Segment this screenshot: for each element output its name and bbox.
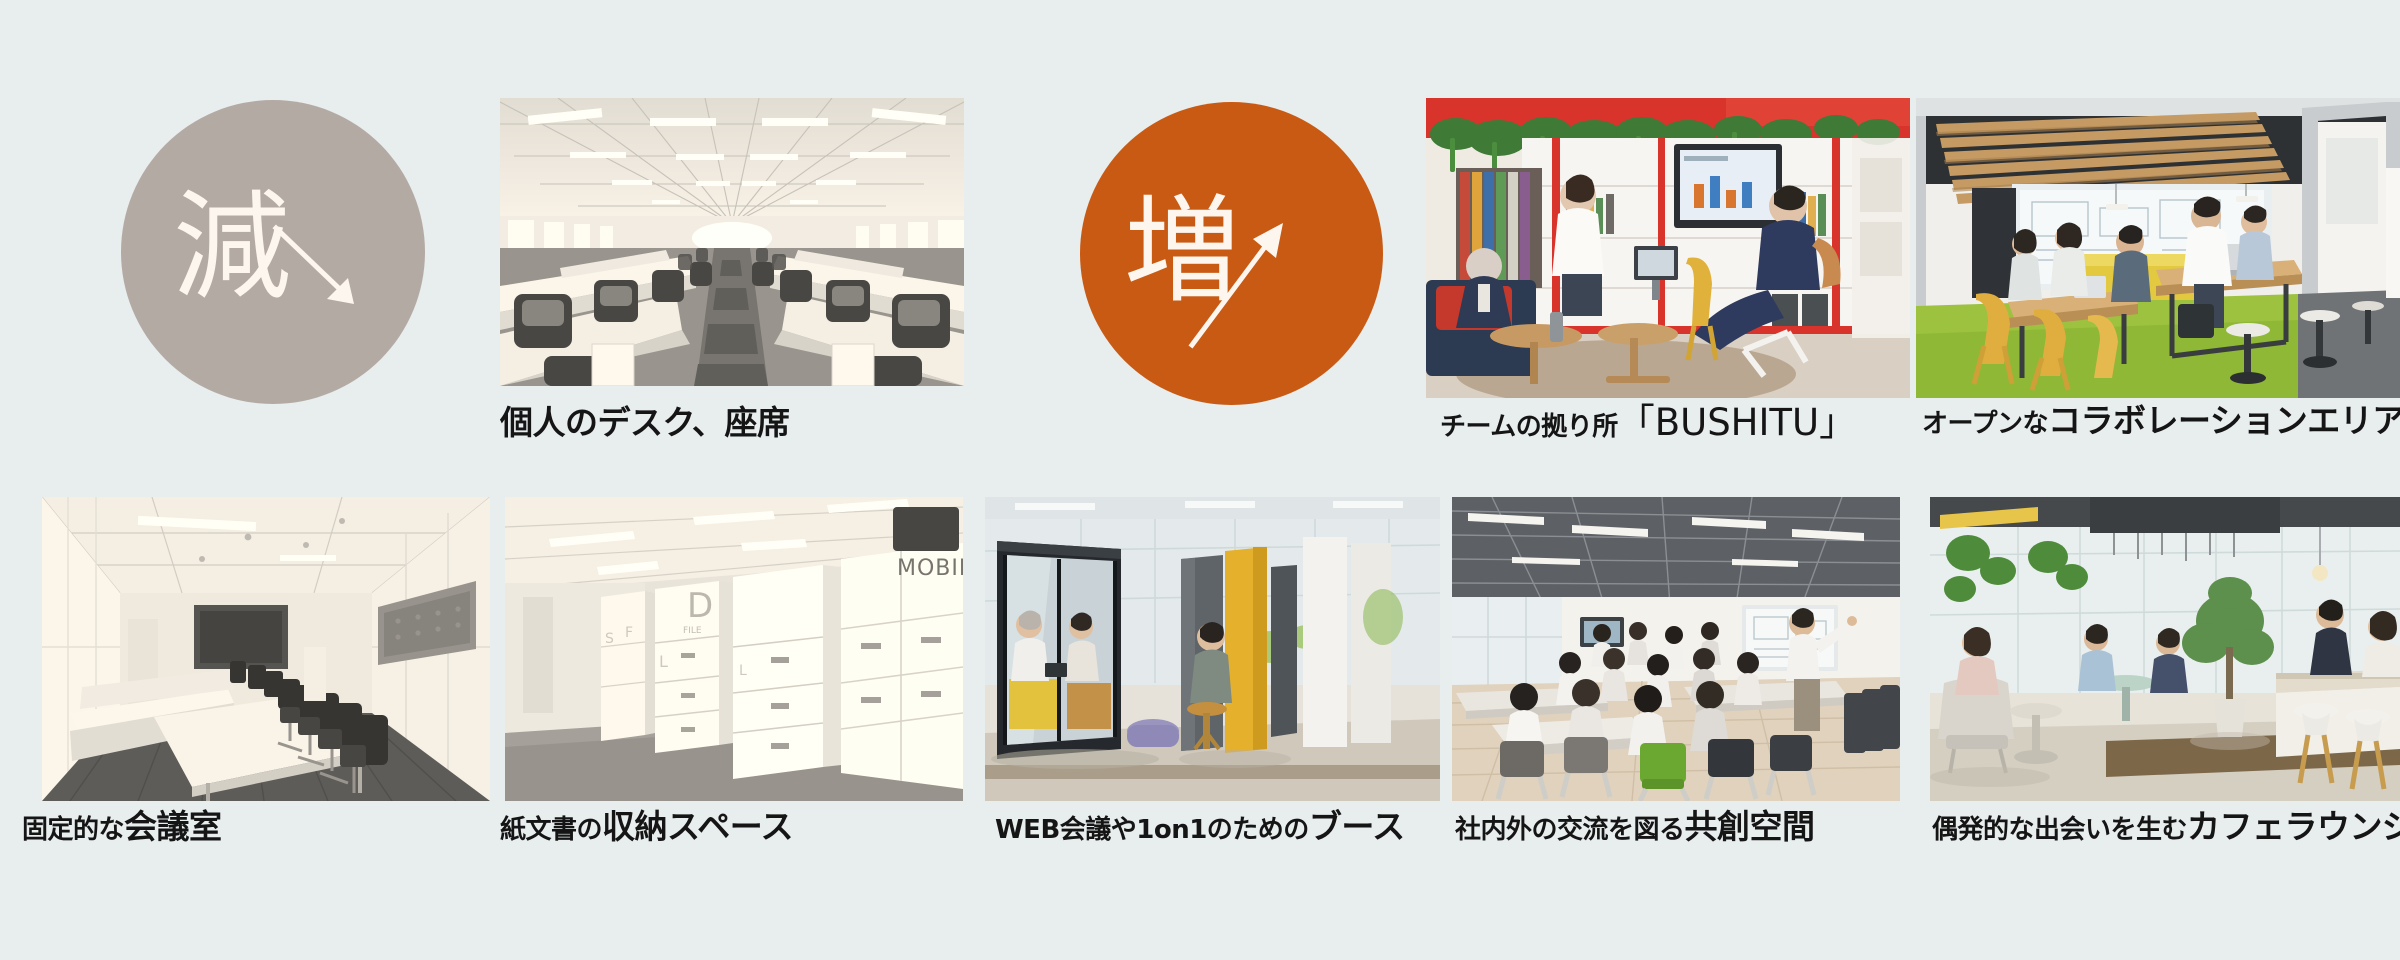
photo-tile-booth <box>985 497 1440 801</box>
photo-meeting-room <box>42 497 490 801</box>
arrow-up-right-icon <box>1080 102 1383 405</box>
caption-bushitu: チームの拠り所「BUSHITU」 <box>1440 404 1856 441</box>
photo-collaboration-area <box>1916 98 2400 398</box>
photo-tile-meeting-room <box>42 497 490 801</box>
svg-text:MOBIL: MOBIL <box>897 556 963 581</box>
photo-tile-personal-desk <box>500 98 964 386</box>
infographic-stage: 減 増 <box>0 0 2400 960</box>
caption-paper-storage-small: 紙文書の <box>500 815 602 845</box>
caption-paper-storage-big: 収納スペース <box>602 807 793 846</box>
arrow-down-right-icon <box>121 100 425 404</box>
svg-text:L: L <box>659 652 668 671</box>
photo-tile-cafe-lounge <box>1930 497 2400 801</box>
caption-meeting-room-big: 会議室 <box>124 807 222 846</box>
caption-co-creation-space-small: 社内外の交流を図る <box>1455 815 1685 845</box>
svg-text:F: F <box>625 625 633 641</box>
caption-cafe-lounge: 偶発的な出会いを生むカフェラウンジ <box>1932 810 2400 843</box>
photo-cafe-lounge <box>1930 497 2400 801</box>
photo-tile-collaboration-area <box>1916 98 2400 398</box>
caption-collaboration-area-small: オープンな <box>1922 409 2048 439</box>
photo-bushitu <box>1426 98 1910 398</box>
photo-booth <box>985 497 1440 801</box>
caption-collaboration-area: オープンなコラボレーションエリア <box>1922 404 2400 437</box>
caption-booth: WEB会議や1on1のためのブース <box>995 810 1405 843</box>
photo-personal-desk <box>500 98 964 386</box>
photo-co-creation-space <box>1452 497 1900 801</box>
caption-personal-desk-text: 個人のデスク、座席 <box>500 403 790 442</box>
caption-co-creation-space-big: 共創空間 <box>1685 807 1815 846</box>
svg-text:L: L <box>739 663 747 679</box>
caption-cafe-lounge-big: カフェラウンジ <box>2187 807 2400 846</box>
caption-bushitu-big: 「BUSHITU」 <box>1618 401 1856 444</box>
photo-paper-storage: D FILE <box>505 497 963 801</box>
caption-personal-desk: 個人のデスク、座席 <box>500 406 790 439</box>
svg-text:FILE: FILE <box>683 626 702 636</box>
photo-tile-co-creation-space <box>1452 497 1900 801</box>
caption-cafe-lounge-small: 偶発的な出会いを生む <box>1932 815 2187 845</box>
svg-text:S: S <box>605 631 614 647</box>
photo-tile-bushitu <box>1426 98 1910 398</box>
caption-booth-small: WEB会議や1on1のための <box>995 815 1309 845</box>
caption-co-creation-space: 社内外の交流を図る共創空間 <box>1455 810 1815 843</box>
caption-paper-storage: 紙文書の収納スペース <box>500 810 793 843</box>
svg-text:D: D <box>687 586 713 626</box>
caption-meeting-room: 固定的な会議室 <box>22 810 222 843</box>
caption-meeting-room-small: 固定的な <box>22 815 124 845</box>
decrease-marker-circle: 減 <box>121 100 425 404</box>
caption-bushitu-small: チームの拠り所 <box>1440 412 1618 442</box>
caption-collaboration-area-big: コラボレーションエリア <box>2048 401 2400 440</box>
caption-booth-big: ブース <box>1309 807 1405 846</box>
increase-marker-circle: 増 <box>1080 102 1383 405</box>
photo-tile-paper-storage: D FILE <box>505 497 963 801</box>
